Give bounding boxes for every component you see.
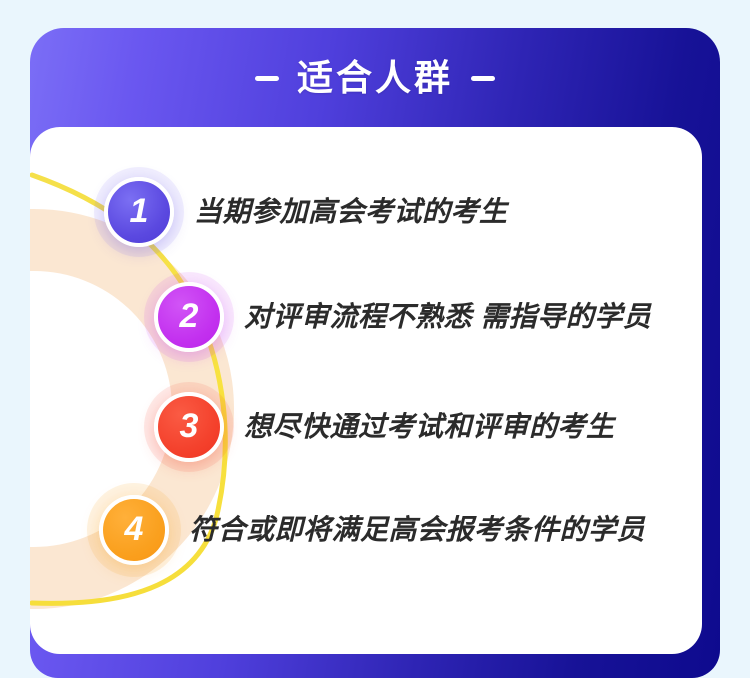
list-item[interactable]: 3 想尽快通过考试和评审的考生 <box>154 392 615 462</box>
list-item-label: 对评审流程不熟悉 需指导的学员 <box>244 303 651 331</box>
list-item-number-badge: 4 <box>99 495 169 565</box>
list-item-number-badge: 2 <box>154 282 224 352</box>
poster-root: 适合人群 1 当期参加高会考试的考生 2 <box>0 0 750 678</box>
list-item-number-badge: 1 <box>104 177 174 247</box>
list-item-number: 1 <box>130 194 149 228</box>
list-item-label: 符合或即将满足高会报考条件的学员 <box>189 516 645 544</box>
list-item-label: 当期参加高会考试的考生 <box>194 198 508 226</box>
list-item-number: 3 <box>180 409 199 443</box>
list-item-label: 想尽快通过考试和评审的考生 <box>244 413 615 441</box>
list-item-number-badge: 3 <box>154 392 224 462</box>
list-item-number: 2 <box>180 299 199 333</box>
list-item[interactable]: 4 符合或即将满足高会报考条件的学员 <box>99 495 645 565</box>
list-item-number: 4 <box>125 512 144 546</box>
list-item[interactable]: 2 对评审流程不熟悉 需指导的学员 <box>154 282 651 352</box>
list-item[interactable]: 1 当期参加高会考试的考生 <box>104 177 508 247</box>
